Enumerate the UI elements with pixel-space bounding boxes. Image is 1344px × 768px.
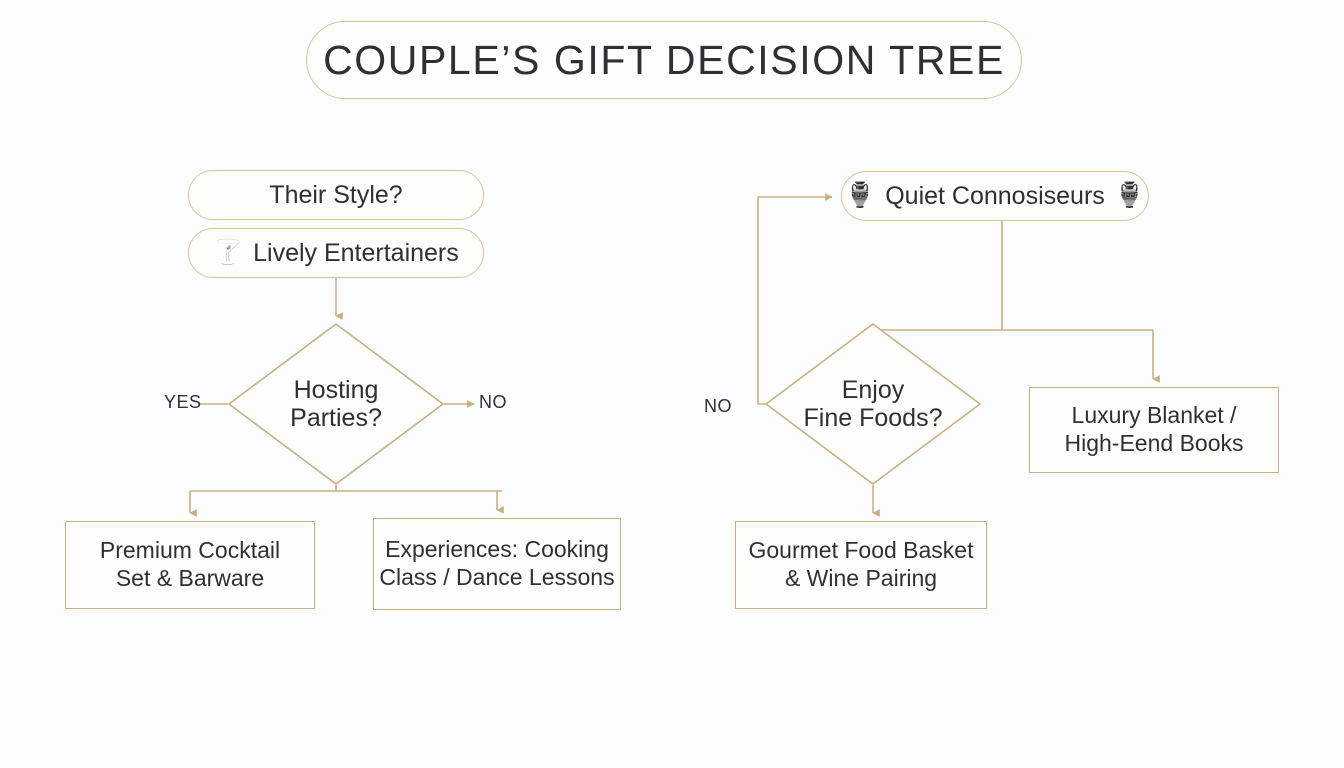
decision-enjoy-fine-foods-line2: Fine Foods? — [804, 404, 943, 433]
outcome-gourmet-food-basket[interactable]: Gourmet Food Basket & Wine Pairing — [735, 521, 987, 609]
outcome-premium-cocktail-set[interactable]: Premium Cocktail Set & Barware — [65, 521, 315, 609]
decision-hosting-parties[interactable]: Hosting Parties? — [228, 323, 444, 485]
outcome-experiences-line2: Class / Dance Lessons — [379, 564, 614, 592]
node-lively-entertainers[interactable]: 🍸 Lively Entertainers — [188, 228, 484, 278]
decanter-icon-left: 🏺 — [845, 184, 875, 208]
decanter-icon-right: 🏺 — [1115, 184, 1145, 208]
decision-hosting-parties-line2: Parties? — [290, 404, 382, 433]
connector-layer — [0, 0, 1344, 768]
outcome-gourmet-food-basket-line2: & Wine Pairing — [785, 565, 937, 593]
decision-tree-canvas: COUPLE’S GIFT DECISION TREE Their Style?… — [0, 0, 1344, 768]
node-quiet-connoisseurs-label: Quiet Connosiseurs — [885, 182, 1105, 211]
node-their-style-label: Their Style? — [269, 181, 402, 210]
outcome-luxury-blanket-books-line1: Luxury Blanket / — [1072, 402, 1237, 430]
outcome-experiences-line1: Experiences: Cooking — [385, 536, 609, 564]
edge-label-yes-hosting: YES — [164, 392, 202, 413]
outcome-experiences[interactable]: Experiences: Cooking Class / Dance Lesso… — [373, 518, 621, 610]
page-title: COUPLE’S GIFT DECISION TREE — [306, 21, 1022, 99]
cocktail-glass-icon: 🍸 — [213, 241, 243, 265]
outcome-luxury-blanket-books-line2: High-Eend Books — [1065, 430, 1244, 458]
node-their-style[interactable]: Their Style? — [188, 170, 484, 220]
decision-enjoy-fine-foods-line1: Enjoy — [842, 376, 905, 405]
decision-hosting-parties-line1: Hosting — [294, 376, 379, 405]
outcome-premium-cocktail-set-line2: Set & Barware — [116, 565, 264, 593]
outcome-gourmet-food-basket-line1: Gourmet Food Basket — [749, 537, 974, 565]
node-lively-entertainers-label: Lively Entertainers — [253, 239, 459, 268]
decision-enjoy-fine-foods[interactable]: Enjoy Fine Foods? — [765, 323, 981, 485]
outcome-premium-cocktail-set-line1: Premium Cocktail — [100, 537, 280, 565]
node-quiet-connoisseurs[interactable]: 🏺 Quiet Connosiseurs 🏺 — [841, 171, 1149, 221]
page-title-text: COUPLE’S GIFT DECISION TREE — [323, 37, 1005, 84]
outcome-luxury-blanket-books[interactable]: Luxury Blanket / High-Eend Books — [1029, 387, 1279, 473]
edge-label-no-fine-foods: NO — [704, 396, 732, 417]
edge-label-no-hosting: NO — [479, 392, 507, 413]
